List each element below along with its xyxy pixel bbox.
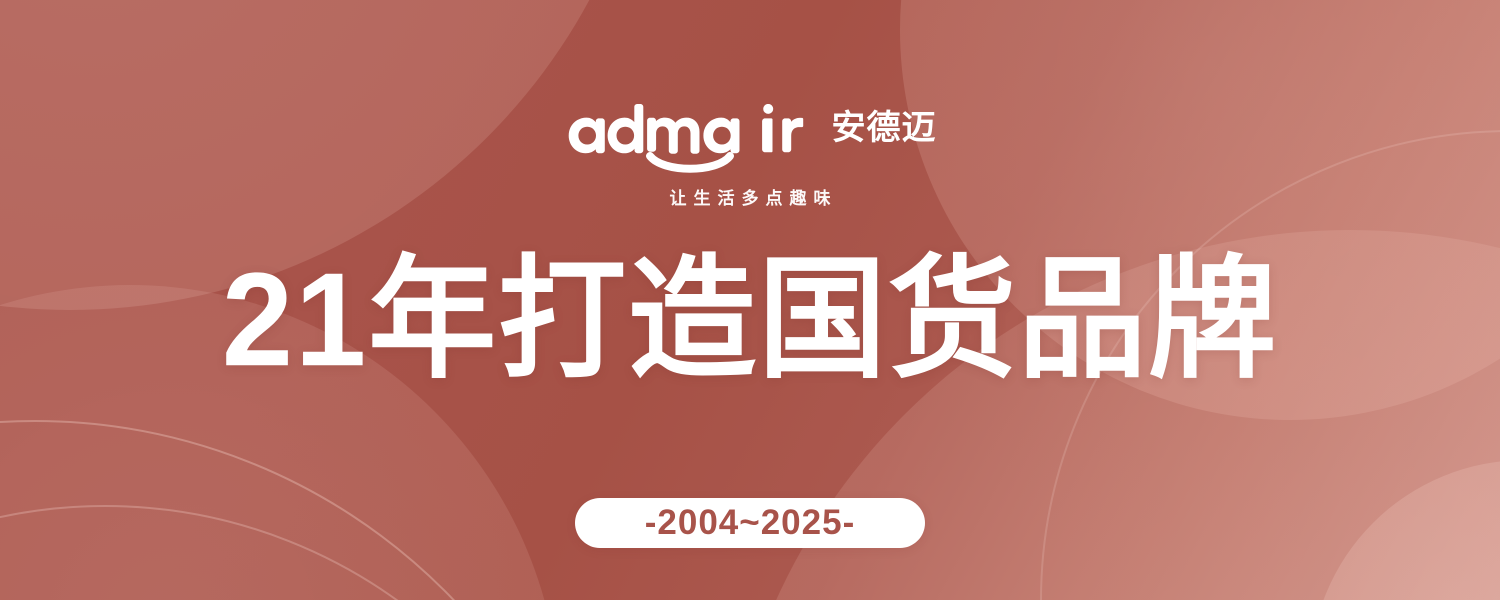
- year-range-label: -2004~2025-: [645, 505, 855, 540]
- logo-chinese-name: 安德迈: [832, 111, 937, 145]
- logo-wordmark-tail: [760, 104, 818, 166]
- admair-ir-icon: [760, 104, 818, 166]
- brand-logo: 安德迈: [564, 104, 937, 166]
- promo-banner: 安德迈 让生活多点趣味 21年打造国货品牌 -2004~2025-: [0, 0, 1500, 600]
- brand-tagline: 让生活多点趣味: [663, 190, 838, 207]
- year-range-badge: -2004~2025-: [575, 498, 925, 548]
- banner-content: 安德迈 让生活多点趣味 21年打造国货品牌 -2004~2025-: [0, 0, 1500, 600]
- headline-text: 21年打造国货品牌: [222, 254, 1278, 387]
- smile-curve-icon: [645, 152, 735, 174]
